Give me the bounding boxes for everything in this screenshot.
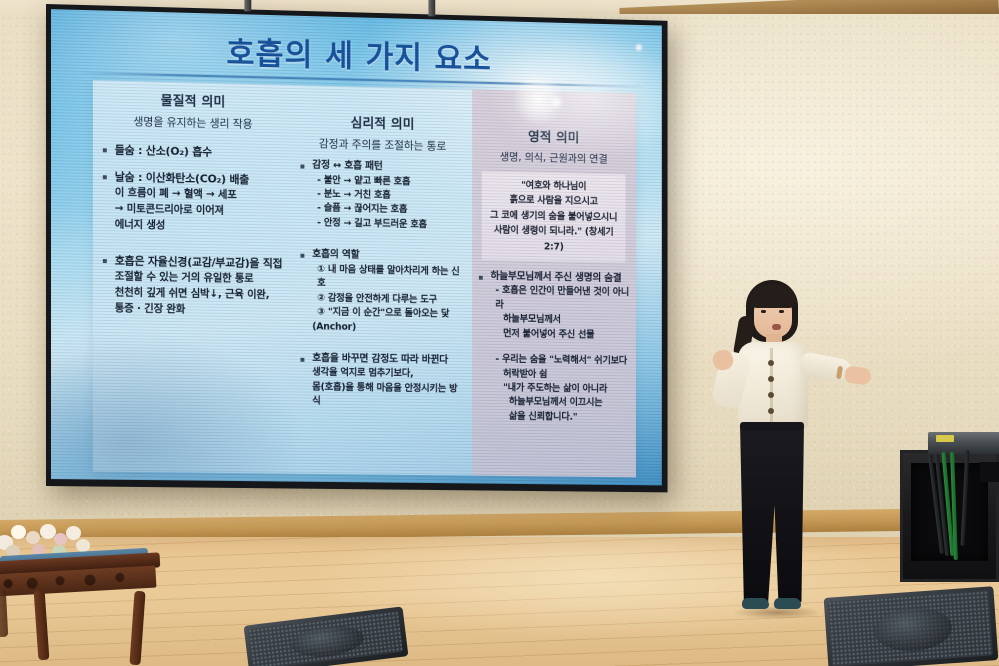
- column-subheading: 감정과 주의를 조절하는 통로: [299, 135, 465, 155]
- screen-sparkle-corner: [634, 42, 644, 52]
- content-block: 호흡의 역할 ① 내 마음 상태를 알아차리게 하는 신호 ② 감정을 안전하게…: [299, 248, 465, 337]
- lecture-hall-scene: 호흡의 세 가지 요소 물질적 의미 생명을 유지하는 생리 작용 들숨 : 산…: [0, 0, 999, 666]
- body-line: - 호흡은 인간이 만들어낸 것이 아니라: [478, 284, 629, 315]
- scripture-quote-box: "여호와 하나님이 흙으로 사람을 지으시고 그 코에 생기의 숨을 불어넣으시…: [482, 171, 626, 262]
- content-block: 하늘부모님께서 주신 생명의 숨결 - 호흡은 인간이 만들어낸 것이 아니라 …: [478, 270, 629, 344]
- slide-column-psychological: 심리적 의미 감정과 주의를 조절하는 통로 감정 ↔ 호흡 패턴 - 불안 →…: [291, 85, 472, 476]
- presenter-mouth: [772, 324, 781, 330]
- content-block: - 우리는 숨을 "노력해서" 쉬기보다 허락받아 쉼 "내가 주도하는 삶이 …: [478, 353, 629, 426]
- body-line: ① 내 마음 상태를 알아차리게 하는 신호: [299, 262, 465, 293]
- body-line: 먼저 불어넣어 주신 선물: [478, 327, 629, 344]
- presenter-figure: [700, 272, 890, 622]
- ornate-side-table: [0, 545, 164, 666]
- cardigan-button: [768, 392, 774, 398]
- column-body: 들숨 : 산소(O₂) 흡수 날숨 : 이산화탄소(CO₂) 배출 이 흐름이 …: [102, 142, 284, 319]
- presenter-hand-right: [844, 365, 872, 385]
- quote-line: 사람이 생령이 되니라." (창세기 2:7): [486, 223, 622, 256]
- table-leg: [129, 591, 145, 666]
- body-line: - 우리는 숨을 "노력해서" 쉬기보다: [478, 353, 629, 369]
- presenter-eye-right: [779, 310, 784, 313]
- screen-sparkle-small: [549, 95, 562, 109]
- presenter-waistband: [740, 422, 804, 431]
- table-leg: [0, 589, 8, 638]
- column-subheading: 생명, 의식, 근원과의 연결: [478, 149, 629, 167]
- flower-bloom: [11, 525, 26, 539]
- led-screen-bezel[interactable]: 호흡의 세 가지 요소 물질적 의미 생명을 유지하는 생리 작용 들숨 : 산…: [46, 4, 668, 492]
- bullet-line: 들숨 : 산소(O₂) 흡수: [102, 142, 284, 162]
- column-heading: 영적 의미: [478, 125, 629, 147]
- content-block: 날숨 : 이산화탄소(CO₂) 배출 이 흐름이 폐 → 혈액 → 세포 → 미…: [102, 169, 284, 236]
- slide-content-panel: 물질적 의미 생명을 유지하는 생리 작용 들숨 : 산소(O₂) 흡수 날숨 …: [93, 80, 636, 477]
- flower-bloom: [26, 531, 40, 544]
- slide-column-material: 물질적 의미 생명을 유지하는 생리 작용 들숨 : 산소(O₂) 흡수 날숨 …: [93, 80, 291, 473]
- body-line: 삶을 신뢰합니다.": [478, 410, 629, 426]
- amplifier-label: [936, 435, 954, 442]
- presenter-trousers: [740, 424, 804, 602]
- flower-bloom: [54, 533, 67, 545]
- column-body: 감정 ↔ 호흡 패턴 - 불안 → 얕고 빠른 호흡 - 분노 → 거친 호흡 …: [299, 159, 465, 412]
- table-leg: [34, 590, 50, 661]
- column-heading: 물질적 의미: [102, 88, 284, 111]
- content-block: 감정 ↔ 호흡 패턴 - 불안 → 얕고 빠른 호흡 - 분노 → 거친 호흡 …: [299, 159, 465, 234]
- bullet-line: 하늘부모님께서 주신 생명의 숨결: [478, 270, 629, 287]
- body-line: (Anchor): [299, 320, 465, 337]
- flower-bloom: [66, 526, 81, 540]
- body-line: - 안정 → 길고 부드러운 호흡: [299, 216, 465, 234]
- body-line: 에너지 생성: [102, 217, 284, 236]
- content-block: 호흡은 자율신경(교감/부교감)을 직접 조절할 수 있는 거의 유일한 통로 …: [102, 253, 284, 320]
- screen-ceiling-mount-left: [244, 0, 251, 12]
- presenter-eye-left: [761, 310, 766, 313]
- cardigan-button: [768, 376, 774, 382]
- content-block: 들숨 : 산소(O₂) 흡수: [102, 142, 284, 162]
- projector-housing: [980, 462, 999, 482]
- led-screen-display[interactable]: 호흡의 세 가지 요소 물질적 의미 생명을 유지하는 생리 작용 들숨 : 산…: [51, 9, 662, 485]
- presenter-shoe-left: [742, 598, 769, 609]
- column-heading: 심리적 의미: [299, 111, 465, 134]
- body-line: 통증 · 긴장 완화: [102, 301, 284, 320]
- stage-monitor-speaker-right: [824, 586, 999, 666]
- column-body: 하늘부모님께서 주신 생명의 숨결 - 호흡은 인간이 만들어낸 것이 아니라 …: [478, 270, 629, 426]
- bullet-line: 호흡의 역할: [299, 248, 465, 265]
- rack-amplifier: [928, 432, 999, 454]
- cardigan-button: [768, 408, 774, 414]
- slide-column-spiritual: 영적 의미 생명, 의식, 근원과의 연결 "여호와 하나님이 흙으로 사람을 …: [472, 89, 636, 477]
- screen-ceiling-mount-right: [428, 0, 435, 17]
- body-line: 몸(호흡)을 통해 마음을 안정시키는 방식: [299, 380, 465, 411]
- cardigan-button: [768, 360, 774, 366]
- presenter-cardigan: [738, 342, 808, 430]
- presenter-hair-front: [750, 284, 796, 308]
- bullet-line: 호흡을 바꾸면 감정도 따라 바뀐다: [299, 352, 465, 369]
- presenter-shoe-right: [774, 598, 801, 609]
- content-block: 호흡을 바꾸면 감정도 따라 바뀐다 생각을 억지로 멈추기보다, 몸(호흡)을…: [299, 352, 465, 411]
- bullet-line: 호흡은 자율신경(교감/부교감)을 직접: [102, 253, 284, 272]
- column-subheading: 생명을 유지하는 생리 작용: [102, 112, 284, 132]
